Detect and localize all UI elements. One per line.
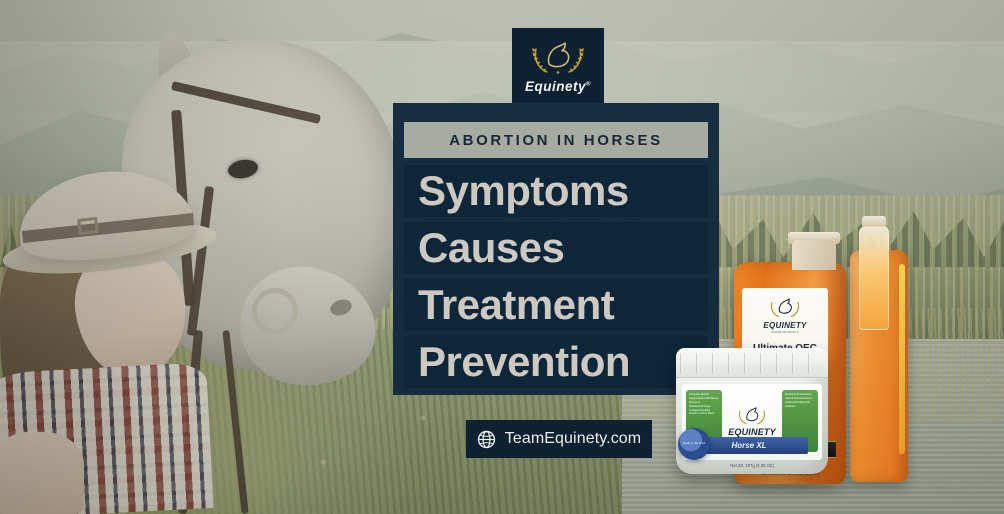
website-url-pill[interactable]: TeamEquinety.com xyxy=(466,420,652,458)
woman-and-horse-photo xyxy=(0,0,400,514)
bit-ring xyxy=(252,288,298,334)
article-hero-banner: Equinety® ABORTION IN HORSES Symptoms Ca… xyxy=(0,0,1004,514)
tub-made-in-usa-rosette: Made in the USA xyxy=(678,428,710,460)
jug-brand: EQUINETY xyxy=(763,321,806,330)
headline-line-symptoms: Symptoms xyxy=(404,165,708,217)
kicker-text: ABORTION IN HORSES xyxy=(449,132,662,149)
hat-buckle xyxy=(77,217,99,235)
tub-net-weight: Net Wt. 197g (6.95 OZ) xyxy=(676,463,828,468)
woman-arm xyxy=(0,432,84,514)
product-dosing-bottle xyxy=(850,250,908,482)
bottle-highlight-stripe xyxy=(899,264,905,454)
horse-head-laurel-wreath-icon xyxy=(765,296,805,320)
product-shots: EQUINETY HORSE PRODUCTS Ultimate OEC OME… xyxy=(704,254,1004,514)
bottle-dosing-chamber xyxy=(859,226,889,330)
tub-product-name: Horse XL xyxy=(731,441,766,450)
website-url-text: TeamEquinety.com xyxy=(505,430,641,448)
headline-line-text: Treatment xyxy=(418,284,614,326)
headline-line-text: Symptoms xyxy=(418,170,629,212)
tub-brand: EQUINETY xyxy=(728,427,776,437)
product-horse-xl-tub: Promotes Muscle Regeneration\nEnhances E… xyxy=(676,348,828,474)
jug-brand-sub: HORSE PRODUCTS xyxy=(771,331,798,334)
logo-wordmark: Equinety® xyxy=(525,80,591,94)
globe-icon xyxy=(477,430,496,449)
logo-trademark: ® xyxy=(586,81,591,87)
headline-line-causes: Causes xyxy=(404,222,708,274)
horse-head-laurel-wreath-icon xyxy=(527,38,589,78)
horse-head-laurel-wreath-icon xyxy=(732,405,772,427)
headline-kicker: ABORTION IN HORSES xyxy=(404,122,708,158)
headline-line-text: Prevention xyxy=(418,341,630,383)
equinety-logo-badge[interactable]: Equinety® xyxy=(512,28,604,103)
headline-line-prevention: Prevention xyxy=(404,336,708,388)
headline-line-text: Causes xyxy=(418,227,564,269)
tub-lid xyxy=(676,348,828,378)
headline-line-treatment: Treatment xyxy=(404,279,708,331)
jug-neck xyxy=(792,240,836,270)
